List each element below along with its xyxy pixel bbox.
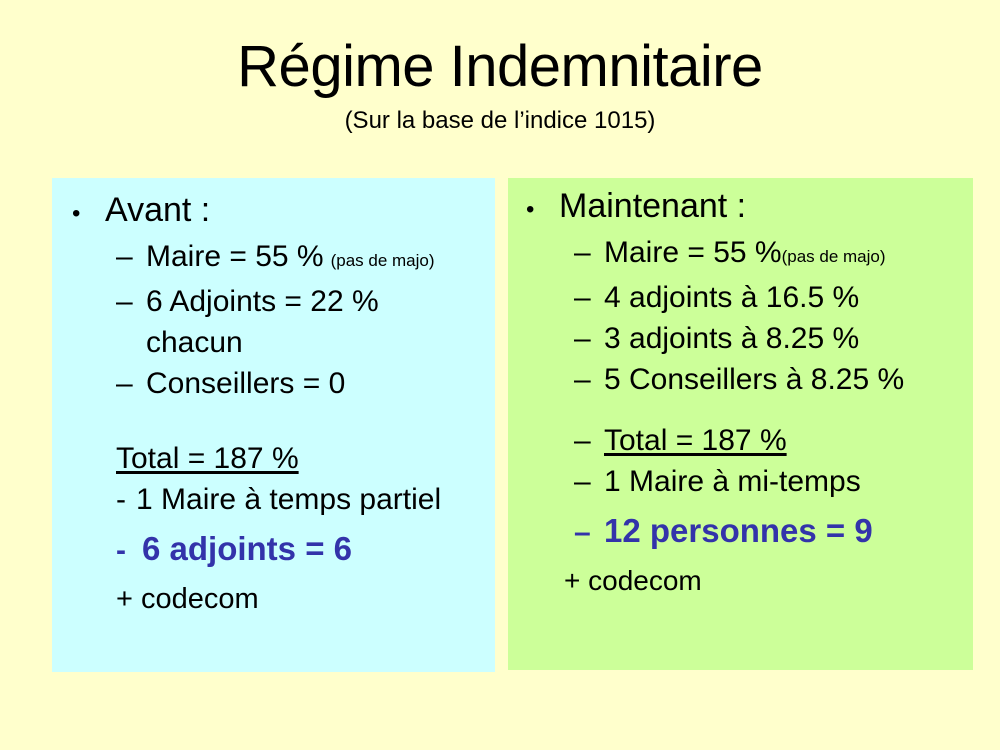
panel-before-heading: Avant : bbox=[105, 188, 210, 232]
minus-icon: - bbox=[116, 479, 136, 520]
page-title: Régime Indemnitaire bbox=[0, 34, 1000, 100]
footer-item-accent: - 6 adjoints = 6 bbox=[116, 528, 489, 571]
panel-now: • Maintenant : – Maire = 55 % (pas de ma… bbox=[508, 178, 973, 670]
panel-before-total-row: Total = 187 % bbox=[116, 438, 489, 479]
list-item: – 4 adjoints à 16.5 % bbox=[574, 277, 967, 318]
spacer bbox=[514, 400, 967, 420]
footer-item-accent: – 12 personnes = 9 bbox=[574, 510, 967, 553]
bullet-icon: • bbox=[72, 192, 105, 236]
panel-now-codecom: + codecom bbox=[564, 561, 967, 601]
list-item-label: 4 adjoints à 16.5 % bbox=[604, 277, 859, 318]
panel-before-heading-row: • Avant : bbox=[72, 188, 489, 236]
dash-icon: – bbox=[574, 359, 604, 400]
list-item-label: 5 Conseillers à 8.25 % bbox=[604, 359, 904, 400]
dash-icon: – bbox=[574, 318, 604, 359]
list-item-note: (pas de majo) bbox=[782, 236, 886, 277]
panel-before-total: Total = 187 % bbox=[116, 442, 299, 475]
bullet-icon: • bbox=[526, 188, 559, 232]
list-item-continuation: chacun bbox=[146, 322, 489, 363]
footer-item-label-accent: 6 adjoints = 6 bbox=[142, 528, 352, 569]
dash-icon: – bbox=[574, 461, 604, 502]
panel-before-codecom: + codecom bbox=[116, 579, 489, 620]
dash-icon: – bbox=[574, 420, 604, 461]
footer-item: – 1 Maire à mi-temps bbox=[574, 461, 967, 502]
page-subtitle: (Sur la base de l’indice 1015) bbox=[0, 106, 1000, 136]
list-item: – 3 adjoints à 8.25 % bbox=[574, 318, 967, 359]
minus-icon: - bbox=[116, 530, 142, 571]
list-item: – Maire = 55 % (pas de majo) bbox=[574, 232, 967, 277]
list-item: – 5 Conseillers à 8.25 % bbox=[574, 359, 967, 400]
list-item-label: 6 Adjoints = 22 % bbox=[146, 281, 379, 322]
panel-now-total: Total = 187 % bbox=[604, 420, 787, 461]
slide-header: Régime Indemnitaire (Sur la base de l’in… bbox=[0, 34, 1000, 136]
spacer bbox=[58, 404, 489, 438]
list-item: – 6 Adjoints = 22 % bbox=[116, 281, 489, 322]
dash-icon: – bbox=[116, 363, 146, 404]
dash-icon: – bbox=[116, 236, 146, 277]
list-item-label: Maire = 55 % bbox=[146, 236, 324, 277]
dash-icon: – bbox=[574, 512, 604, 553]
dash-icon: – bbox=[574, 232, 604, 273]
panel-now-heading: Maintenant : bbox=[559, 184, 746, 228]
footer-item-label: 1 Maire à temps partiel bbox=[136, 479, 441, 520]
dash-icon: – bbox=[574, 277, 604, 318]
list-item-label: 3 adjoints à 8.25 % bbox=[604, 318, 859, 359]
panel-now-heading-row: • Maintenant : bbox=[526, 184, 967, 232]
spacer bbox=[514, 553, 967, 561]
list-item-label: Maire = 55 % bbox=[604, 232, 782, 273]
list-item-note: (pas de majo) bbox=[324, 240, 435, 281]
spacer bbox=[58, 520, 489, 528]
spacer bbox=[514, 502, 967, 510]
spacer bbox=[58, 571, 489, 579]
footer-item-label: 1 Maire à mi-temps bbox=[604, 461, 861, 502]
list-item-label: Conseillers = 0 bbox=[146, 363, 345, 404]
panel-now-total-row: – Total = 187 % bbox=[574, 420, 967, 461]
footer-item: - 1 Maire à temps partiel bbox=[116, 479, 489, 520]
panel-before: • Avant : – Maire = 55 % (pas de majo) –… bbox=[52, 178, 495, 672]
list-item: – Maire = 55 % (pas de majo) bbox=[116, 236, 489, 281]
list-item: – Conseillers = 0 bbox=[116, 363, 489, 404]
dash-icon: – bbox=[116, 281, 146, 322]
footer-item-label-accent: 12 personnes = 9 bbox=[604, 510, 873, 551]
